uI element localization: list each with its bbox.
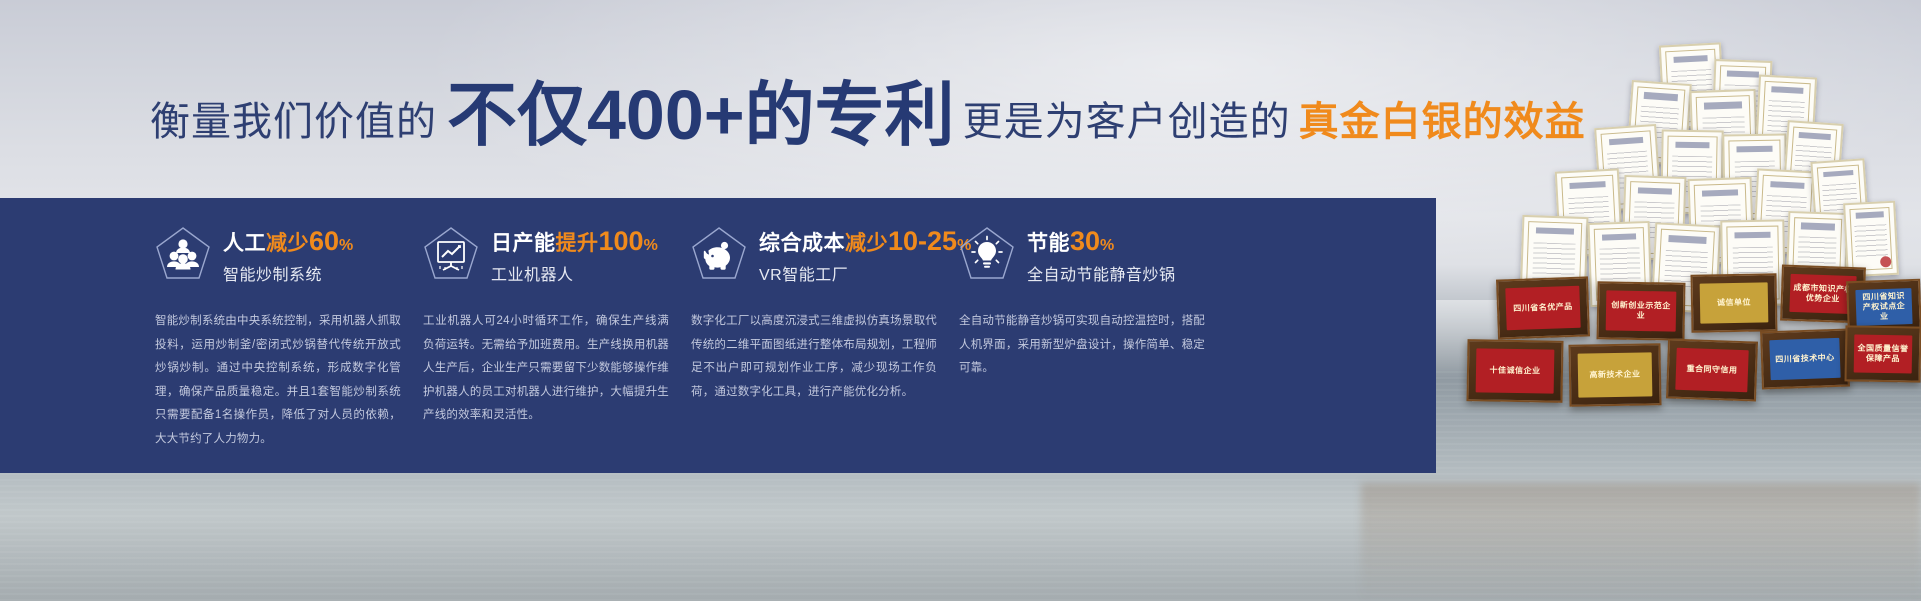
certificate-border bbox=[1718, 65, 1766, 135]
certificate-text-lines bbox=[1634, 201, 1675, 238]
certificate-border bbox=[1628, 181, 1680, 255]
certificate-text-lines bbox=[1700, 204, 1742, 242]
feature-item: 人工减少60%智能炒制系统智能炒制系统由中央系统控制，采用机器人抓取投料，运用炒… bbox=[155, 220, 423, 451]
plaque-label: 创新创业示范企业 bbox=[1606, 300, 1676, 321]
certificate-border bbox=[1601, 130, 1656, 205]
certificate-border bbox=[1694, 183, 1749, 259]
feature-panel: 人工减少60%智能炒制系统智能炒制系统由中央系统控制，采用机器人抓取投料，运用炒… bbox=[0, 198, 1436, 473]
certificate-border bbox=[1666, 136, 1717, 209]
plaque-label: 成都市知识产权优势企业 bbox=[1790, 283, 1857, 305]
feature-metric-unit: % bbox=[1100, 237, 1115, 254]
certificate-seal bbox=[1734, 154, 1745, 165]
certificate-text-lines bbox=[1854, 224, 1888, 257]
feature-titles: 人工减少60%智能炒制系统 bbox=[223, 227, 354, 285]
certificate-text-lines bbox=[1568, 196, 1611, 235]
feature-header: 综合成本减少10-25%VR智能工厂 bbox=[691, 220, 937, 292]
certificate-text-lines bbox=[1702, 116, 1745, 155]
certificate-border bbox=[1761, 81, 1810, 151]
plaque-label: 四川省知识产权试点企业 bbox=[1855, 291, 1912, 323]
certificate-heading bbox=[1771, 86, 1804, 94]
certificate-border bbox=[1633, 86, 1686, 159]
certificate-heading bbox=[1669, 235, 1707, 244]
certificate-frame bbox=[1651, 222, 1722, 313]
plaque-face: 高新技术企业 bbox=[1578, 352, 1653, 397]
plaque-face: 四川省知识产权试点企业 bbox=[1855, 288, 1912, 326]
award-plaque: 创新创业示范企业 bbox=[1597, 281, 1686, 341]
certificate-heading bbox=[1770, 181, 1805, 189]
certificate-text-lines bbox=[1797, 237, 1836, 273]
award-plaque: 四川省知识产权试点企业 bbox=[1846, 279, 1921, 336]
plaque-face: 重合同守信用 bbox=[1675, 348, 1748, 392]
plaque-face: 全国质量信誉保障产品 bbox=[1854, 334, 1913, 373]
certificate-heading bbox=[1855, 212, 1884, 219]
lightbulb-icon bbox=[959, 226, 1015, 286]
certificate-frame bbox=[1588, 221, 1653, 307]
certificate-frame bbox=[1810, 158, 1869, 238]
feature-description: 数字化工厂以高度沉浸式三维虚拟仿真场景取代传统的二维平面图纸进行整体布局规划，工… bbox=[691, 310, 937, 404]
feature-metric-label: 人工 bbox=[223, 232, 266, 255]
chart-board-icon bbox=[423, 226, 479, 286]
feature-item: 综合成本减少10-25%VR智能工厂数字化工厂以高度沉浸式三维虚拟仿真场景取代传… bbox=[691, 220, 959, 451]
plaque-label: 高新技术企业 bbox=[1586, 370, 1643, 381]
certificate-heading bbox=[1609, 136, 1644, 145]
certificate-seal bbox=[1599, 232, 1611, 244]
feature-description: 工业机器人可24小时循环工作，确保生产线满负荷运转。无需给予加班费用。生产线换用… bbox=[423, 310, 669, 428]
feature-item: 节能30%全自动节能静音炒锅全自动节能静音炒锅可实现自动控温控时，搭配人机界面，… bbox=[959, 220, 1227, 451]
feature-metric-value: 30 bbox=[1070, 226, 1100, 256]
feature-metric: 节能30% bbox=[1027, 227, 1176, 257]
certificate-heading bbox=[1569, 181, 1605, 189]
certificate-text-lines bbox=[1767, 100, 1805, 136]
feature-description: 智能炒制系统由中央系统控制，采用机器人抓取投料，运用炒制釜/密闭式炒锅替代传统开… bbox=[155, 310, 401, 451]
certificate-seal bbox=[1880, 256, 1892, 268]
certificate-seal bbox=[1562, 279, 1573, 290]
feature-metric: 综合成本减少10-25% bbox=[759, 227, 972, 257]
headline-accent: 真金白银的效益 bbox=[1299, 89, 1586, 147]
feature-item: 日产能提升100%工业机器人工业机器人可24小时循环工作，确保生产线满负荷运转。… bbox=[423, 220, 691, 451]
feature-metric-value: 100 bbox=[599, 226, 644, 256]
certificate-frame bbox=[1689, 89, 1758, 179]
certificate-heading bbox=[1801, 223, 1835, 230]
certificate-frame bbox=[1555, 168, 1623, 257]
certificate-heading bbox=[1702, 189, 1738, 197]
feature-titles: 节能30%全自动节能静音炒锅 bbox=[1027, 227, 1176, 285]
certificate-text-lines bbox=[1607, 151, 1649, 190]
certificate-frame bbox=[1712, 59, 1773, 141]
certificate-seal bbox=[1819, 181, 1831, 193]
headline-prefix: 衡量我们价值的 bbox=[150, 89, 437, 147]
certificate-heading bbox=[1673, 55, 1708, 63]
certificate-border bbox=[1849, 207, 1892, 271]
certificate-text-lines bbox=[1732, 246, 1773, 284]
certificate-heading bbox=[1736, 146, 1772, 153]
certificate-seal bbox=[1630, 283, 1641, 294]
feature-metric-verb: 减少 bbox=[845, 232, 888, 255]
award-plaque: 诚信单位 bbox=[1691, 273, 1778, 332]
plaque-face: 四川省技术中心 bbox=[1769, 338, 1840, 380]
certificate-frame bbox=[1660, 129, 1723, 214]
certificate-text-lines bbox=[1822, 182, 1858, 217]
certificate-heading bbox=[1644, 92, 1678, 101]
feature-metric: 日产能提升100% bbox=[491, 227, 658, 257]
certificate-seal bbox=[1793, 232, 1805, 244]
certificate-heading bbox=[1799, 132, 1831, 140]
piggy-bank-icon bbox=[691, 226, 747, 286]
certificate-seal bbox=[1762, 283, 1773, 294]
certificate-frame bbox=[1753, 168, 1819, 255]
certificate-text-lines bbox=[1532, 242, 1575, 280]
certificate-heading bbox=[1536, 227, 1573, 235]
banner-root: 四川省名优产品创新创业示范企业诚信单位成都市知识产权优势企业四川省知识产权试点企… bbox=[0, 0, 1921, 601]
feature-header: 人工减少60%智能炒制系统 bbox=[155, 220, 401, 292]
feature-metric-label: 节能 bbox=[1027, 232, 1070, 255]
feature-metric: 人工减少60% bbox=[223, 227, 354, 257]
feature-titles: 综合成本减少10-25%VR智能工厂 bbox=[759, 227, 972, 285]
award-plaque: 全国质量信誉保障产品 bbox=[1845, 325, 1921, 382]
certificate-border bbox=[1789, 127, 1837, 196]
plaque-label: 十佳诚信企业 bbox=[1486, 366, 1543, 377]
headline-emphasis: 不仅400+的专利 bbox=[447, 82, 955, 149]
certificate-border bbox=[1665, 49, 1719, 124]
plaque-label: 诚信单位 bbox=[1714, 298, 1754, 309]
feature-metric-value: 10-25 bbox=[888, 226, 957, 256]
certificate-seal bbox=[1749, 119, 1760, 130]
certificate-seal bbox=[1702, 105, 1714, 117]
plaque-face: 十佳诚信企业 bbox=[1476, 348, 1555, 393]
plaque-label: 重合同守信用 bbox=[1683, 364, 1740, 376]
certificate-seal bbox=[1849, 215, 1861, 227]
plaque-face: 诚信单位 bbox=[1700, 282, 1769, 323]
feature-list: 人工减少60%智能炒制系统智能炒制系统由中央系统控制，采用机器人抓取投料，运用炒… bbox=[155, 220, 1405, 451]
certificate-text-lines bbox=[1600, 247, 1641, 284]
feature-subtitle: 工业机器人 bbox=[491, 261, 658, 285]
certificate-frame bbox=[1755, 75, 1817, 158]
feature-metric-unit: % bbox=[644, 237, 659, 254]
certificate-frame bbox=[1659, 42, 1725, 129]
plaque-face: 创新创业示范企业 bbox=[1606, 290, 1677, 331]
certificate-seal bbox=[1700, 192, 1711, 203]
feature-metric-unit: % bbox=[339, 237, 354, 254]
feature-header: 日产能提升100%工业机器人 bbox=[423, 220, 669, 292]
certificate-frame bbox=[1786, 211, 1849, 295]
certificate-heading bbox=[1602, 233, 1637, 241]
award-plaque: 高新技术企业 bbox=[1568, 343, 1661, 407]
certificate-text-lines bbox=[1639, 106, 1679, 144]
certificate-frame bbox=[1520, 215, 1589, 303]
certificate-frame bbox=[1722, 133, 1787, 220]
feature-subtitle: 全自动节能静音炒锅 bbox=[1027, 261, 1176, 285]
feature-metric-label: 综合成本 bbox=[759, 232, 845, 255]
certificate-heading bbox=[1823, 170, 1853, 178]
certificate-seal bbox=[1662, 238, 1673, 249]
certificate-reflection bbox=[1361, 483, 1921, 601]
certificate-text-lines bbox=[1765, 195, 1806, 233]
certificate-border bbox=[1726, 226, 1779, 301]
people-group-icon bbox=[155, 226, 211, 286]
certificate-border bbox=[1728, 140, 1781, 215]
certificate-border bbox=[1657, 229, 1715, 308]
certificate-seal bbox=[1693, 289, 1705, 301]
certificate-heading bbox=[1727, 71, 1760, 78]
certificate-text-lines bbox=[1794, 145, 1832, 181]
feature-titles: 日产能提升100%工业机器人 bbox=[491, 227, 658, 285]
plaque-label: 四川省名优产品 bbox=[1510, 302, 1576, 314]
feature-description: 全自动节能静音炒锅可实现自动控温控时，搭配人机界面，采用新型炉盘设计，操作简单、… bbox=[959, 310, 1205, 381]
certificate-heading bbox=[1637, 187, 1672, 195]
plaque-face: 四川省名优产品 bbox=[1505, 286, 1580, 331]
certificate-frame bbox=[1720, 219, 1785, 306]
feature-subtitle: VR智能工厂 bbox=[759, 261, 972, 285]
certificate-seal bbox=[1764, 197, 1775, 208]
headline-middle: 更是为客户创造的 bbox=[963, 89, 1291, 147]
feature-subtitle: 智能炒制系统 bbox=[223, 261, 354, 285]
certificate-frame bbox=[1688, 177, 1755, 265]
page-title: 衡量我们价值的 不仅400+的专利 更是为客户创造的 真金白银的效益 bbox=[150, 78, 1586, 147]
certificate-heading bbox=[1704, 101, 1741, 109]
certificate-seal bbox=[1825, 273, 1836, 284]
award-plaque: 四川省名优产品 bbox=[1496, 276, 1590, 339]
award-plaque: 四川省技术中心 bbox=[1760, 328, 1850, 389]
certificate-text-lines bbox=[1672, 156, 1712, 193]
feature-metric-verb: 提升 bbox=[556, 232, 599, 255]
award-plaque: 重合同守信用 bbox=[1666, 338, 1758, 401]
feature-metric-label: 日产能 bbox=[491, 232, 556, 255]
plaque-face: 成都市知识产权优势企业 bbox=[1789, 274, 1856, 314]
certificate-seal bbox=[1731, 240, 1742, 251]
feature-metric-verb: 减少 bbox=[266, 232, 309, 255]
plaque-label: 全国质量信誉保障产品 bbox=[1854, 343, 1912, 364]
certificate-border bbox=[1759, 175, 1813, 250]
certificate-heading bbox=[1734, 232, 1770, 239]
feature-header: 节能30%全自动节能静音炒锅 bbox=[959, 220, 1205, 292]
certificate-seal bbox=[1666, 144, 1678, 156]
certificate-frame bbox=[1782, 120, 1843, 202]
certificate-heading bbox=[1675, 141, 1710, 148]
feature-metric-value: 60 bbox=[309, 226, 339, 256]
certificate-border bbox=[1792, 217, 1842, 289]
certificate-text-lines bbox=[1734, 160, 1775, 198]
certificate-text-lines bbox=[1723, 84, 1761, 119]
certificate-frame bbox=[1843, 201, 1899, 278]
certificate-border bbox=[1526, 221, 1583, 297]
certificate-border bbox=[1817, 165, 1863, 232]
certificate-text-lines bbox=[1671, 69, 1712, 107]
certificate-border bbox=[1561, 175, 1617, 252]
certificate-frame bbox=[1594, 124, 1662, 212]
certificate-frame bbox=[1626, 80, 1692, 166]
award-plaque: 成都市知识产权优势企业 bbox=[1780, 265, 1866, 324]
certificate-border bbox=[1594, 227, 1646, 301]
certificate-seal bbox=[1792, 135, 1804, 147]
plaque-label: 四川省技术中心 bbox=[1772, 353, 1838, 365]
certificate-text-lines bbox=[1664, 250, 1708, 290]
certificate-seal bbox=[1638, 187, 1650, 199]
certificate-frame bbox=[1622, 175, 1687, 261]
certificate-border bbox=[1696, 95, 1753, 173]
award-plaque: 十佳诚信企业 bbox=[1466, 339, 1563, 403]
